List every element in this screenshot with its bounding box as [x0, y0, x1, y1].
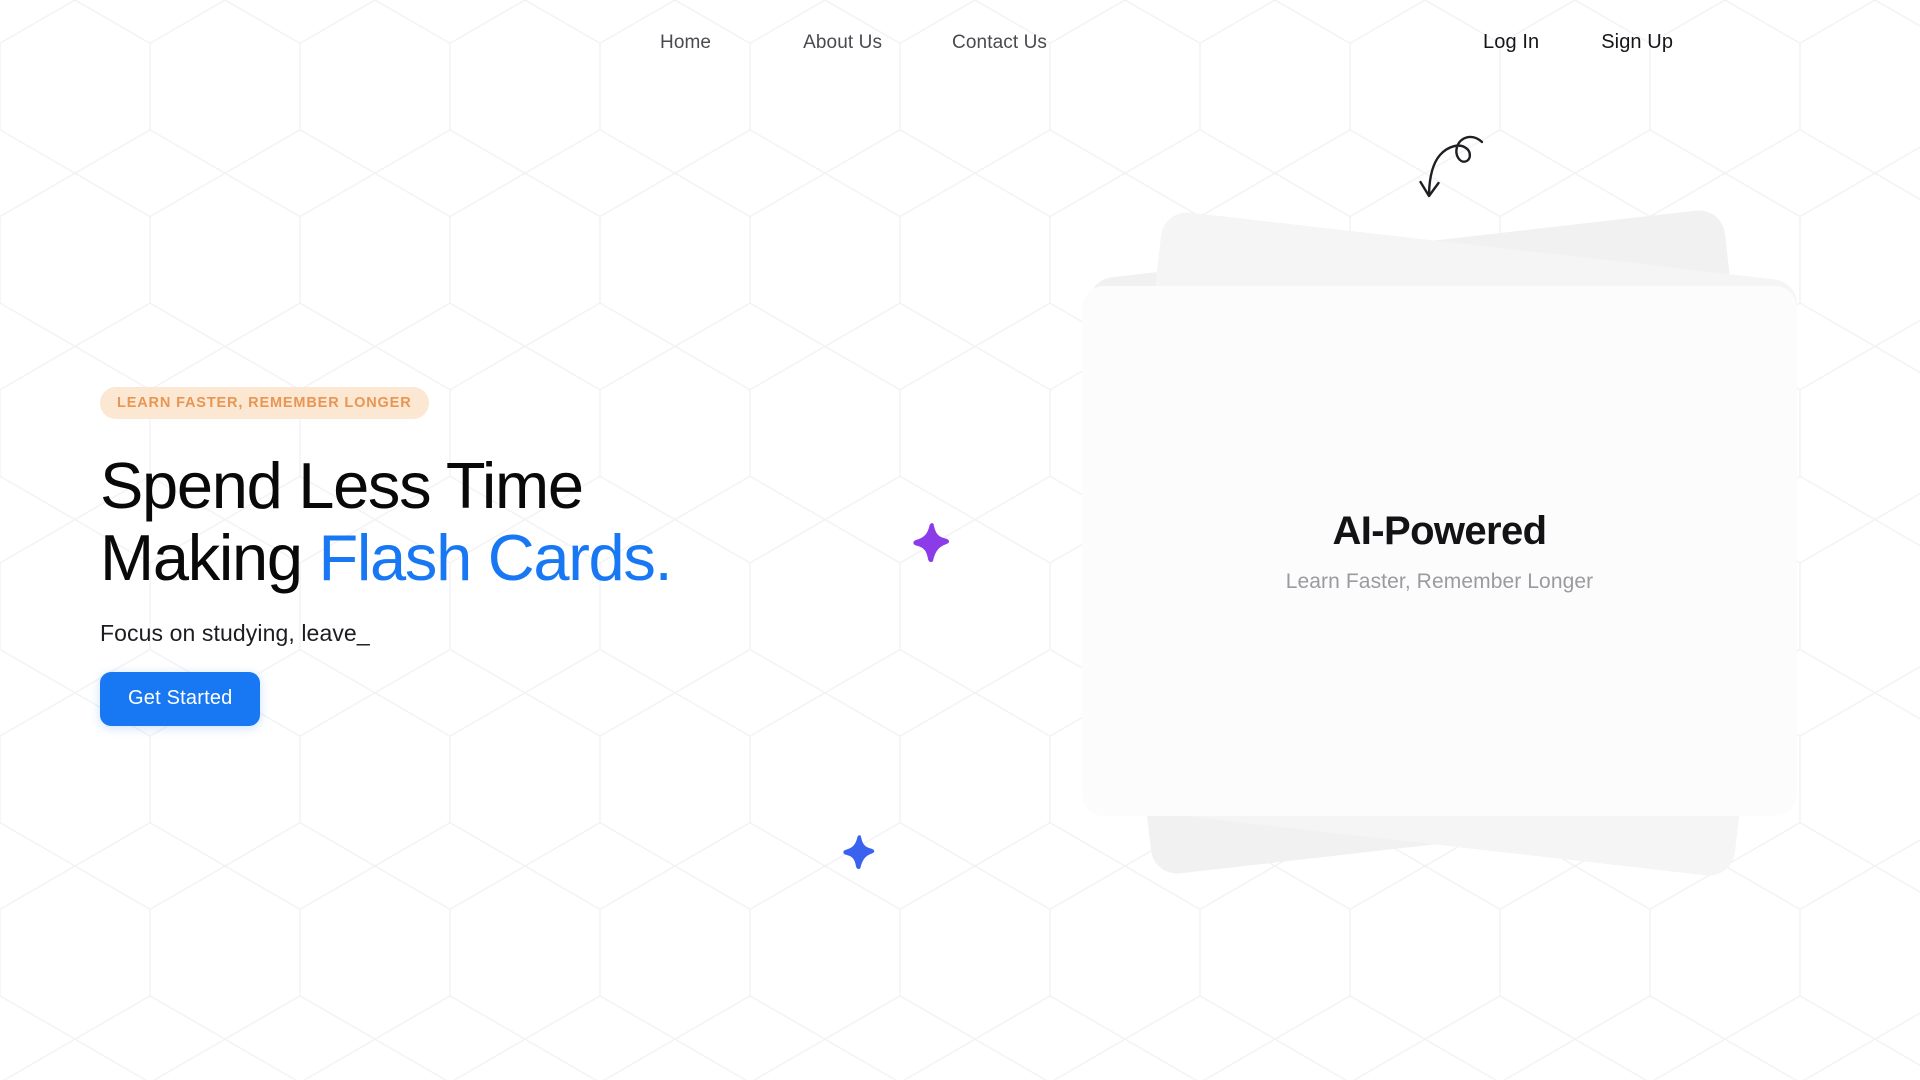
flashcard-title: AI-Powered [1332, 509, 1546, 553]
get-started-button[interactable]: Get Started [100, 672, 260, 726]
auth-navigation: Log In Sign Up [1483, 31, 1673, 54]
hero-subtitle: Focus on studying, leave_ [100, 620, 860, 647]
hero-heading-line-2-accent: Flash Cards. [319, 521, 672, 594]
sparkle-icon [843, 835, 876, 870]
curly-arrow-doodle [1410, 128, 1500, 208]
flashcard-preview-stack: AI-Powered Learn Faster, Remember Longer [1040, 250, 1840, 880]
flashcard-preview[interactable]: AI-Powered Learn Faster, Remember Longer [1082, 286, 1797, 816]
flashcard-subtitle: Learn Faster, Remember Longer [1286, 570, 1594, 594]
hero-heading: Spend Less Time Making Flash Cards. [100, 450, 860, 594]
nav-link-contact-us[interactable]: Contact Us [952, 32, 1047, 54]
nav-link-about-us[interactable]: About Us [803, 32, 882, 54]
auth-link-log-in[interactable]: Log In [1483, 31, 1539, 54]
nav-link-home[interactable]: Home [660, 32, 711, 54]
main-navigation: Home About Us Contact Us [660, 32, 1047, 54]
auth-link-sign-up[interactable]: Sign Up [1601, 31, 1673, 54]
hero-badge: LEARN FASTER, REMEMBER LONGER [100, 387, 429, 419]
hero-heading-line-1: Spend Less Time [100, 449, 583, 522]
sparkle-icon [913, 523, 951, 563]
site-header: Home About Us Contact Us Log In Sign Up [0, 0, 1920, 88]
hero-heading-line-2-plain: Making [100, 521, 319, 594]
hero-section: LEARN FASTER, REMEMBER LONGER Spend Less… [100, 387, 860, 726]
